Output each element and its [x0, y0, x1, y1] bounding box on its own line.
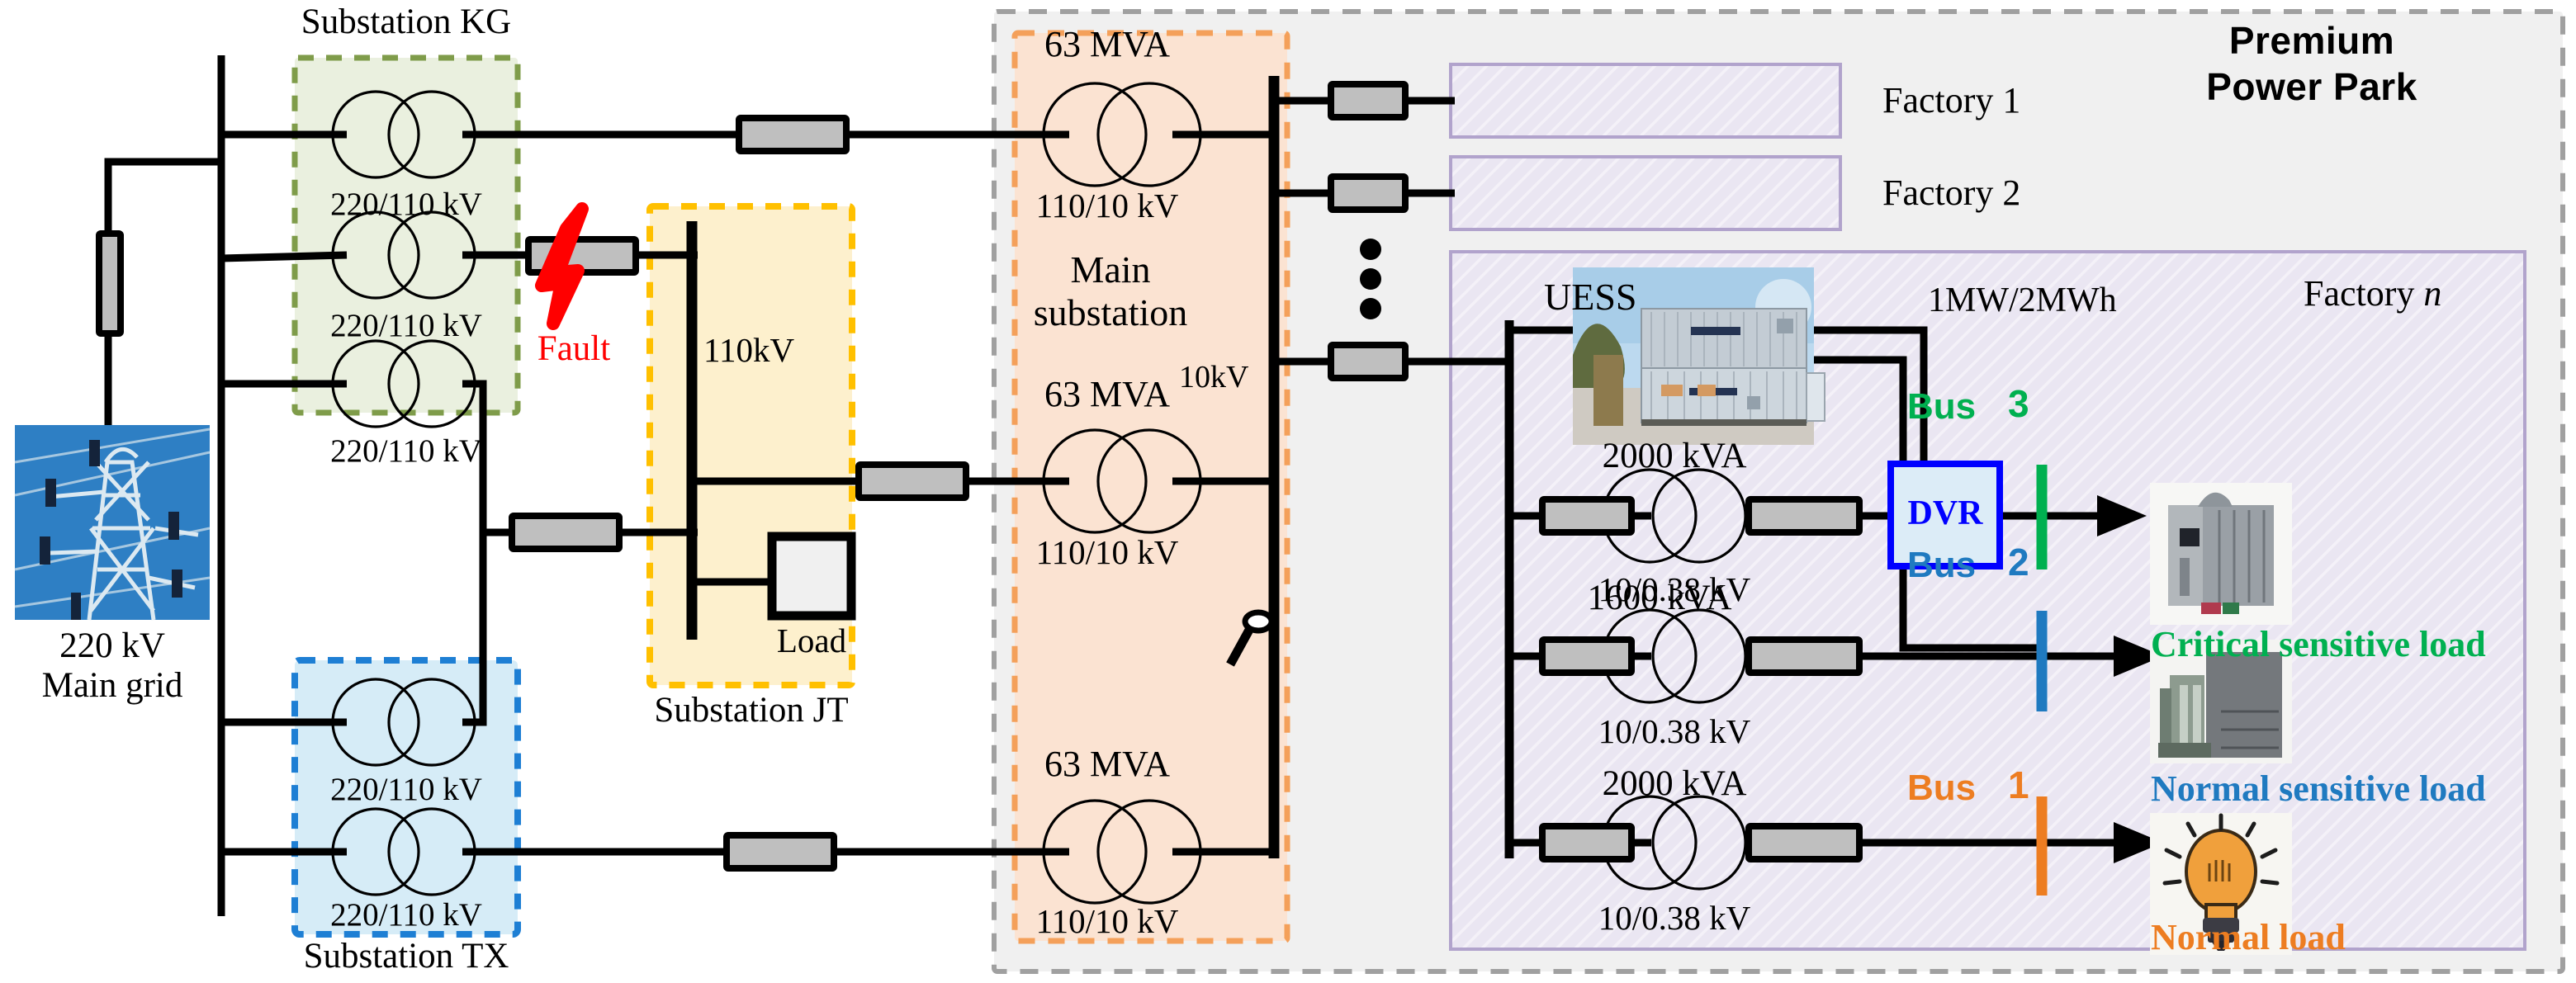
factory-n-label-prefix: Factory: [2304, 273, 2414, 314]
uess-rating-label: 1MW/2MWh: [1928, 281, 2117, 320]
bus-3-label: Bus: [1907, 386, 1976, 428]
bus-1-number: 1: [2008, 763, 2029, 807]
branch-bus2-rating: 1600 kVA: [1588, 578, 1732, 618]
main-substation-bus-label: 10kV: [1179, 359, 1248, 395]
factory-n-label-index: n: [2423, 273, 2441, 314]
main-substation-transformer-3-rating: 63 MVA: [1044, 743, 1170, 785]
substation-jt-load-label: Load: [777, 621, 846, 660]
normal-sensitive-load-label: Normal sensitive load: [2151, 768, 2486, 810]
transmission-tower-photo: [15, 425, 210, 620]
industrial-controller-icon: [2150, 483, 2292, 625]
substation-kg-transformer-2-ratio: 220/110 kV: [330, 307, 482, 344]
bus-2-label: Bus: [1907, 545, 1976, 586]
premium-power-park-title-line1: Premium: [2229, 18, 2394, 63]
main-grid-voltage-label: 220 kV: [59, 626, 165, 666]
main-substation-transformer-1-rating: 63 MVA: [1044, 23, 1170, 65]
bus-3-number: 3: [2008, 381, 2029, 426]
uess-label: UESS: [1544, 275, 1636, 319]
main-substation-transformer-1-ratio: 110/10 kV: [1036, 186, 1179, 225]
factory-2-label: Factory 2: [1882, 172, 2020, 214]
substation-jt-title: Substation JT: [654, 690, 848, 730]
critical-sensitive-load-label: Critical sensitive load: [2151, 623, 2486, 665]
substation-kg-transformer-3-ratio: 220/110 kV: [330, 432, 482, 470]
substation-tx-title: Substation TX: [304, 936, 509, 976]
fault-label: Fault: [537, 328, 610, 369]
single-line-diagram: Substation KG 220/110 kV 220/110 kV 220/…: [0, 0, 2576, 983]
branch-bus1-ratio: 10/0.38 kV: [1598, 898, 1751, 938]
main-substation-transformer-2-ratio: 110/10 kV: [1036, 532, 1179, 572]
branch-bus1-rating: 2000 kVA: [1603, 763, 1747, 804]
substation-tx-transformer-1-ratio: 220/110 kV: [330, 771, 482, 808]
main-substation-title-line2: substation: [1034, 291, 1188, 334]
main-substation-title-line1: Main: [1070, 248, 1150, 291]
bus-2-number: 2: [2008, 540, 2029, 584]
substation-jt-bus-label: 110kV: [703, 330, 794, 370]
branch-bus2-ratio: 10/0.38 kV: [1598, 711, 1751, 751]
bus-1-label: Bus: [1907, 768, 1976, 809]
factory-1-label: Factory 1: [1882, 79, 2020, 121]
main-substation-transformer-3-ratio: 110/10 kV: [1036, 901, 1179, 941]
factory-n-label: Factory n: [2304, 272, 2441, 314]
main-substation-transformer-2-rating: 63 MVA: [1044, 373, 1170, 415]
premium-power-park-title-line2: Power Park: [2206, 64, 2417, 109]
normal-load-label: Normal load: [2151, 916, 2346, 958]
branch-bus3-rating: 2000 kVA: [1603, 436, 1747, 476]
dvr-label: DVR: [1908, 494, 1983, 533]
photo-layer: [0, 0, 2576, 983]
substation-kg-title: Substation KG: [301, 2, 511, 42]
substation-tx-transformer-2-ratio: 220/110 kV: [330, 896, 482, 933]
substation-kg-transformer-1-ratio: 220/110 kV: [330, 186, 482, 223]
main-grid-label: Main grid: [42, 665, 183, 706]
